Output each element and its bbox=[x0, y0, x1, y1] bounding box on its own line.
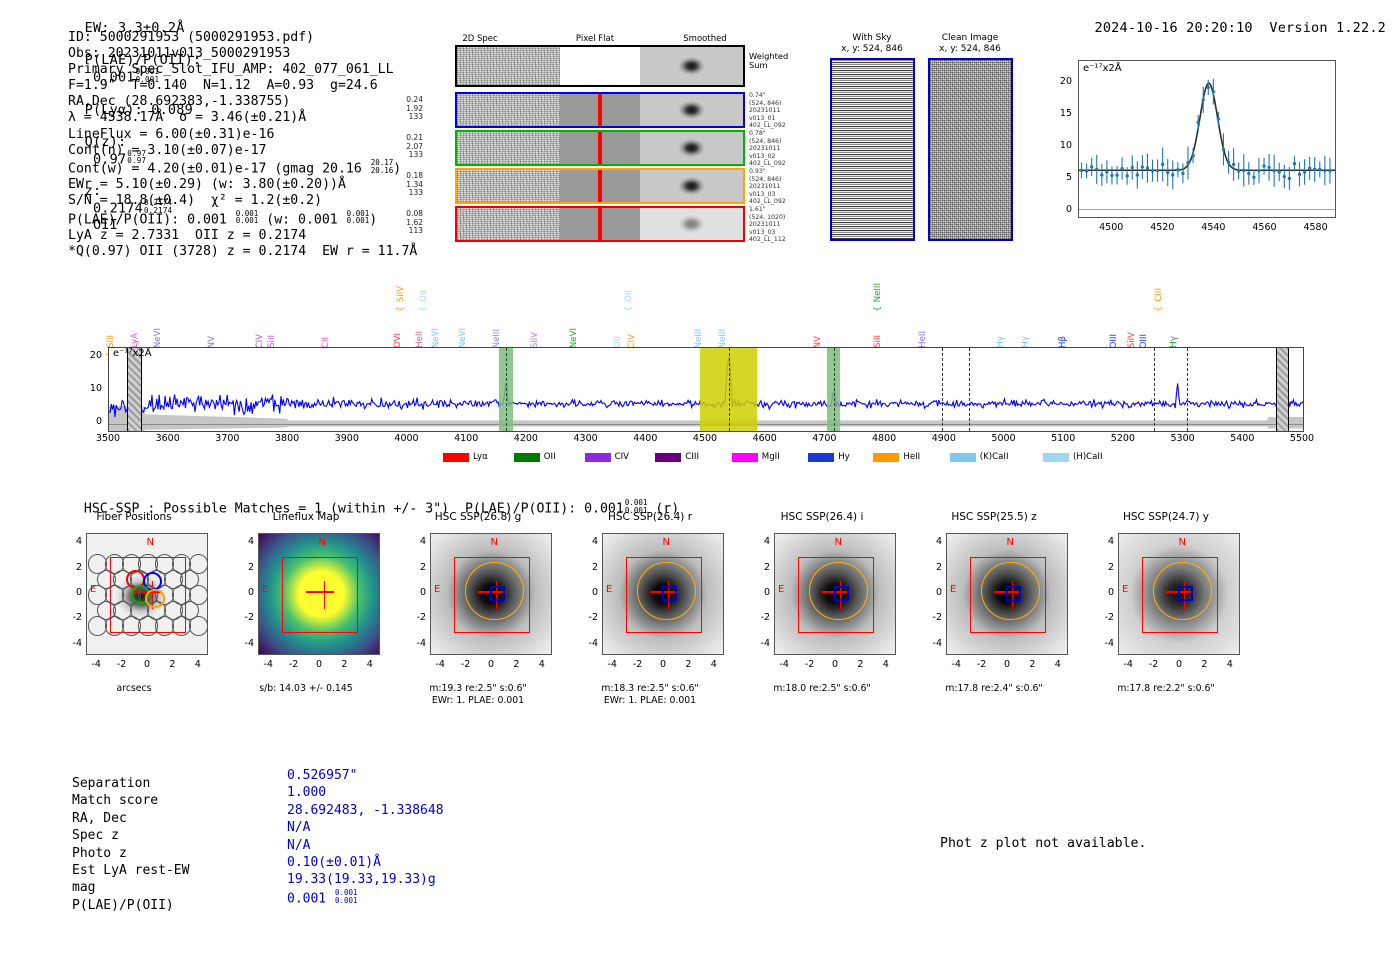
legend-swatch bbox=[950, 453, 976, 462]
fiber-1-pixelflat bbox=[560, 94, 640, 126]
cutout-ytick: -2 bbox=[576, 612, 598, 623]
line-label-heii: HeII bbox=[415, 331, 425, 348]
info-plae-range: 0.0010.001 bbox=[236, 210, 259, 226]
info-obs: Obs: 20231011v013_5000291953 bbox=[68, 46, 417, 62]
cutout-xtick: 0 bbox=[135, 659, 159, 670]
cutout-xtick: 0 bbox=[823, 659, 847, 670]
line-label-civ: CIV bbox=[255, 334, 265, 348]
weighted-sum-smoothed bbox=[640, 47, 743, 85]
line-bracket: { bbox=[1154, 306, 1164, 312]
masked-region bbox=[127, 348, 143, 431]
north-label: N bbox=[319, 537, 326, 548]
cutout-xtick: 4 bbox=[530, 659, 554, 670]
cutout-ytick: -2 bbox=[60, 612, 82, 623]
line-label-nevi: NeVI bbox=[569, 328, 579, 348]
weighted-sum-2dspec bbox=[457, 47, 560, 85]
cutout-image[interactable]: NE bbox=[602, 533, 724, 655]
source-marker bbox=[1178, 586, 1193, 601]
cutout-ytick: -4 bbox=[404, 638, 426, 649]
fiber-4-left-stats: 0.081.62113 bbox=[385, 210, 423, 236]
legend-label: Lyα bbox=[473, 452, 488, 462]
cutout-xtick: -2 bbox=[454, 659, 478, 670]
cutout-ytick: 0 bbox=[1092, 587, 1114, 598]
cutout-image[interactable]: NE bbox=[258, 533, 380, 655]
montage-title-2dspec: 2D Spec bbox=[430, 34, 530, 44]
fiber-circle bbox=[189, 554, 208, 573]
legend-item-oii: OII bbox=[514, 452, 556, 462]
cutout-caption-line2: EWr: 1. PLAE: 0.001 bbox=[432, 695, 524, 706]
cutout-xtick: -2 bbox=[970, 659, 994, 670]
cutout-image[interactable]: NE bbox=[774, 533, 896, 655]
info-redshifts: LyA z = 2.7331 OII z = 0.2174 bbox=[68, 228, 417, 244]
cutout-title: HSC SSP(24.7) y bbox=[1092, 511, 1240, 523]
cutout-ytick: 4 bbox=[232, 536, 254, 547]
cutout-title: HSC SSP(26.8) g bbox=[404, 511, 552, 523]
info-plae-w-range: 0.0010.001 bbox=[347, 210, 370, 226]
north-label: N bbox=[1179, 537, 1186, 548]
line-label-siiv: SiIV bbox=[396, 286, 406, 302]
fiber-1-left-stats: 0.241.92133 bbox=[385, 96, 423, 122]
masked-region bbox=[1276, 348, 1289, 431]
line-bracket: { bbox=[873, 306, 883, 312]
cutout-caption-line2: EWr: 1. PLAE: 0.001 bbox=[604, 695, 696, 706]
detail-value: 0.001 0.0010.001 bbox=[287, 889, 358, 908]
cutout-xtick: 2 bbox=[332, 659, 356, 670]
cutout-xtick: 0 bbox=[1167, 659, 1191, 670]
cutout-caption: m:17.8 re:2.2" s:0.6" bbox=[1092, 683, 1240, 695]
fiber-3-smoothed bbox=[640, 170, 743, 202]
cutout-caption-line1: arcsecs bbox=[117, 683, 152, 694]
cutout-ytick: -4 bbox=[920, 638, 942, 649]
reference-line bbox=[969, 348, 970, 431]
cutout-xtick: -4 bbox=[600, 659, 624, 670]
legend-label: Hy bbox=[838, 452, 850, 462]
cutout-ytick: -4 bbox=[576, 638, 598, 649]
with-sky-title: With Skyx, y: 524, 846 bbox=[822, 33, 922, 55]
detail-value-range: 0.0010.001 bbox=[335, 889, 358, 905]
info-classification: *Q(0.97) OII (3728) z = 0.2174 EW r = 11… bbox=[68, 244, 417, 260]
fit-ytick: 0 bbox=[1046, 204, 1072, 215]
fiber-3-pixelflat bbox=[560, 170, 640, 202]
cutout-xtick: -2 bbox=[282, 659, 306, 670]
fit-xtick: 4560 bbox=[1248, 222, 1280, 233]
fiber-2-left-stats: 0.212.07133 bbox=[385, 134, 423, 160]
cutout-ytick: -2 bbox=[1092, 612, 1114, 623]
cutout-xtick: -2 bbox=[110, 659, 134, 670]
cutout-ytick: -4 bbox=[1092, 638, 1114, 649]
info-ewr: EWr = 5.10(±0.29) (w: 3.80(±0.20))Å bbox=[68, 177, 417, 193]
legend-swatch bbox=[514, 453, 540, 462]
crosshair-horizontal bbox=[306, 591, 334, 592]
cutout-xtick: 4 bbox=[702, 659, 726, 670]
line-label-neiii: NeIII bbox=[873, 283, 883, 302]
spectrum-ylabel: e⁻¹⁷x2Å bbox=[113, 348, 152, 359]
cutout-ytick: -2 bbox=[232, 612, 254, 623]
source-marker bbox=[662, 586, 677, 601]
legend-item-ciii: CIII bbox=[655, 452, 699, 462]
cutout-ytick: 0 bbox=[576, 587, 598, 598]
cutout-xtick: 4 bbox=[186, 659, 210, 670]
fit-xtick: 4540 bbox=[1197, 222, 1229, 233]
line-label-oiii: OIII bbox=[1139, 334, 1149, 348]
fiber-1-smoothed bbox=[640, 94, 743, 126]
cutout-xtick: 4 bbox=[874, 659, 898, 670]
legend-swatch bbox=[808, 453, 834, 462]
info-seeing: F=1.9" T=0.140 N=1.12 A=0.93 g=24.6 bbox=[68, 78, 417, 94]
east-label: E bbox=[262, 584, 268, 595]
spectrum-ytick: 0 bbox=[78, 416, 102, 427]
detail-value-lo: 0.001 bbox=[335, 896, 358, 905]
north-label: N bbox=[1007, 537, 1014, 548]
cutout-ytick: 2 bbox=[404, 562, 426, 573]
legend-item-hcaii: (H)CaII bbox=[1043, 452, 1103, 462]
line-label-heii: HeII bbox=[918, 331, 928, 348]
legend-label: CIV bbox=[615, 452, 629, 462]
weighted-sum-pixelflat bbox=[560, 47, 640, 85]
cutout-xtick: 2 bbox=[1020, 659, 1044, 670]
line-fit-axes: e⁻¹⁷x2Å bbox=[1078, 60, 1336, 218]
line-label-siiv: SiIV bbox=[1127, 332, 1137, 348]
line-label-nevi: NeVI bbox=[431, 328, 441, 348]
legend-label: (H)CaII bbox=[1073, 452, 1103, 462]
reference-line bbox=[1154, 348, 1155, 431]
montage-title-smoothed: Smoothed bbox=[660, 34, 750, 44]
detail-value: 19.33(19.33,19.33)g bbox=[287, 871, 436, 888]
east-label: E bbox=[778, 584, 784, 595]
line-label-neiii: NeIII bbox=[694, 329, 704, 348]
detail-key: RA, Dec bbox=[72, 810, 127, 827]
detail-key: P(LAE)/P(OII) bbox=[72, 897, 174, 914]
cutout-image[interactable]: NE bbox=[430, 533, 552, 655]
fiber-row-3 bbox=[455, 168, 745, 204]
cutout-caption-line1: s/b: 14.03 +/- 0.145 bbox=[259, 683, 352, 694]
cutout-caption-line1: m:19.3 re:2.5" s:0.6" bbox=[429, 683, 526, 694]
info-id: ID: 5000291953 (5000291953.pdf) bbox=[68, 30, 417, 46]
cutout-xtick: 4 bbox=[1218, 659, 1242, 670]
detail-key: Separation bbox=[72, 775, 150, 792]
cutout-title: HSC SSP(26.4) i bbox=[748, 511, 896, 523]
cutout-xtick: -4 bbox=[84, 659, 108, 670]
cutout-caption: m:19.3 re:2.5" s:0.6"EWr: 1. PLAE: 0.001 bbox=[404, 683, 552, 707]
band-center-line bbox=[834, 348, 835, 431]
weighted-sum-label: WeightedSum bbox=[749, 52, 788, 71]
detail-value-text: 0.001 bbox=[287, 891, 334, 906]
fiber-row-2 bbox=[455, 130, 745, 166]
detail-value: 1.000 bbox=[287, 784, 326, 801]
cutout-ytick: 4 bbox=[404, 536, 426, 547]
timestamp-version: 2024-10-16 20:20:10 Version 1.22.2 bbox=[1078, 4, 1386, 36]
cutout-ytick: -2 bbox=[920, 612, 942, 623]
photz-note: Phot z plot not available. bbox=[940, 836, 1146, 851]
info-plae: P(LAE)/P(OII): 0.001 0.0010.001 (w: 0.00… bbox=[68, 210, 417, 229]
cutout-xtick: -4 bbox=[772, 659, 796, 670]
detail-value: N/A bbox=[287, 837, 310, 854]
cutout-image[interactable]: NE bbox=[946, 533, 1068, 655]
fit-curve bbox=[1079, 61, 1335, 217]
legend-item-hy: Hy bbox=[808, 452, 850, 462]
line-label-oii: OII bbox=[419, 290, 429, 302]
source-marker bbox=[834, 586, 849, 601]
fit-ylabel: e⁻¹⁷x2Å bbox=[1083, 63, 1122, 74]
spectrum-legend: LyαOIICIVCIIIMgIIHyHeII(K)CaII(H)CaII bbox=[108, 432, 1304, 452]
legend-item-ly: Lyα bbox=[443, 452, 488, 462]
cutout-ytick: 2 bbox=[232, 562, 254, 573]
cutout-xtick: -4 bbox=[944, 659, 968, 670]
detail-value: 0.10(±0.01)Å bbox=[287, 854, 381, 871]
line-label-oiii: OIII bbox=[1109, 334, 1119, 348]
detail-key: mag bbox=[72, 879, 95, 896]
fiber-3-right-meta: 0.93"(524, 846)20231011v013_03402_LL_092 bbox=[749, 168, 786, 206]
east-label: E bbox=[434, 584, 440, 595]
cutout-ytick: 4 bbox=[1092, 536, 1114, 547]
detail-key: Spec z bbox=[72, 827, 119, 844]
fiber-3-2dspec bbox=[457, 170, 560, 202]
cutout-xtick: 4 bbox=[358, 659, 382, 670]
timestamp: 2024-10-16 20:20:10 bbox=[1095, 20, 1253, 36]
east-label: E bbox=[606, 584, 612, 595]
line-label-oii: OII bbox=[624, 290, 634, 302]
legend-swatch bbox=[655, 453, 681, 462]
legend-swatch bbox=[1043, 453, 1069, 462]
cutout-xtick: 0 bbox=[479, 659, 503, 670]
north-label: N bbox=[663, 537, 670, 548]
cutout-title: Lineflux Map bbox=[232, 511, 380, 523]
fit-ytick: 15 bbox=[1046, 108, 1072, 119]
line-label-lya: LyA bbox=[130, 333, 140, 348]
east-label: E bbox=[90, 584, 96, 595]
north-label: N bbox=[147, 537, 154, 548]
cutout-xtick: 2 bbox=[1192, 659, 1216, 670]
fit-ytick: 20 bbox=[1046, 76, 1072, 87]
legend-label: HeII bbox=[903, 452, 920, 462]
fiber-3-left-stats: 0.181.34133 bbox=[385, 172, 423, 198]
reference-line bbox=[942, 348, 943, 431]
legend-swatch bbox=[443, 453, 469, 462]
cutout-ytick: 0 bbox=[920, 587, 942, 598]
cutout-xtick: 2 bbox=[504, 659, 528, 670]
cutout-caption-line1: m:18.3 re:2.5" s:0.6" bbox=[601, 683, 698, 694]
legend-swatch bbox=[732, 453, 758, 462]
cutout-caption: m:18.3 re:2.5" s:0.6"EWr: 1. PLAE: 0.001 bbox=[576, 683, 724, 707]
fiber-2-2dspec bbox=[457, 132, 560, 164]
fit-xtick: 4580 bbox=[1300, 222, 1332, 233]
cutout-caption: arcsecs bbox=[60, 683, 208, 695]
cutout-ytick: 0 bbox=[748, 587, 770, 598]
north-label: N bbox=[835, 537, 842, 548]
line-label-ovi: OVI bbox=[393, 333, 403, 348]
fiber-2-pixelflat bbox=[560, 132, 640, 164]
clean-image bbox=[928, 58, 1013, 241]
with-sky-image bbox=[830, 58, 915, 241]
legend-label: OII bbox=[544, 452, 556, 462]
fiber-2-smoothed bbox=[640, 132, 743, 164]
fiber-circle-highlighted bbox=[145, 589, 164, 608]
cutout-xtick: -4 bbox=[256, 659, 280, 670]
cutout-caption-line1: m:17.8 re:2.4" s:0.6" bbox=[945, 683, 1042, 694]
legend-item-mgii: MgII bbox=[732, 452, 780, 462]
line-label-neiii: NeIII bbox=[492, 329, 502, 348]
legend-item-kcaii: (K)CaII bbox=[950, 452, 1009, 462]
cutout-caption: m:18.0 re:2.5" s:0.6" bbox=[748, 683, 896, 695]
cutout-ytick: 0 bbox=[404, 587, 426, 598]
info-cont-n: Cont(n) = 3.10(±0.07)e-17 bbox=[68, 143, 417, 159]
legend-label: MgII bbox=[762, 452, 780, 462]
cutout-title: HSC SSP(26.4) r bbox=[576, 511, 724, 523]
line-label-nevi: NeVI bbox=[458, 328, 468, 348]
cutout-ytick: 4 bbox=[576, 536, 598, 547]
band-center-line bbox=[729, 348, 730, 431]
detail-value: N/A bbox=[287, 819, 310, 836]
cutout-ytick: 0 bbox=[60, 587, 82, 598]
line-fit-plot: e⁻¹⁷x2Å 2015105045004520454045604580 bbox=[1038, 56, 1338, 246]
cutout-ytick: -2 bbox=[748, 612, 770, 623]
fiber-4-pixelflat bbox=[560, 208, 640, 240]
cutout-ytick: 2 bbox=[60, 562, 82, 573]
cutout-caption-line1: m:18.0 re:2.5" s:0.6" bbox=[773, 683, 870, 694]
cutout-caption-line1: m:17.8 re:2.2" s:0.6" bbox=[1117, 683, 1214, 694]
line-bracket: { bbox=[624, 306, 634, 312]
north-label: N bbox=[491, 537, 498, 548]
cutout-image[interactable]: NE bbox=[86, 533, 208, 655]
cutout-ytick: -2 bbox=[404, 612, 426, 623]
line-label-civ: CIV bbox=[627, 334, 637, 348]
version: Version 1.22.2 bbox=[1269, 20, 1386, 36]
full-spectrum-plot: SiII{LyA{NeVI{NV{CIV{SiII{CII{OVI{SiIV{H… bbox=[108, 347, 1304, 432]
detail-key: Est LyA rest-EW bbox=[72, 862, 189, 879]
cutout-caption: s/b: 14.03 +/- 0.145 bbox=[232, 683, 380, 695]
fiber-4-smoothed bbox=[640, 208, 743, 240]
fiber-row-1 bbox=[455, 92, 745, 128]
weighted-sum-row bbox=[455, 45, 745, 87]
info-cont-w: Cont(w) = 4.20(±0.01)e-17 (gmag 20.16 20… bbox=[68, 159, 417, 178]
spectrum-ytick: 10 bbox=[78, 383, 102, 394]
detection-info-block: ID: 5000291953 (5000291953.pdf) Obs: 202… bbox=[68, 30, 417, 260]
fiber-1-right-meta: 0.74"(524, 846)20231011v013_01402_LL_092 bbox=[749, 92, 786, 130]
fit-ytick: 5 bbox=[1046, 172, 1072, 183]
cutout-xtick: 0 bbox=[995, 659, 1019, 670]
cutout-image[interactable]: NE bbox=[1118, 533, 1240, 655]
source-marker bbox=[490, 586, 505, 601]
cutout-xtick: -2 bbox=[1142, 659, 1166, 670]
info-lineflux: LineFlux = 6.00(±0.31)e-16 bbox=[68, 127, 417, 143]
legend-label: CIII bbox=[685, 452, 699, 462]
crosshair-vertical bbox=[324, 581, 325, 609]
info-slot: Primary Spec_Slot_IFU_AMP: 402_077_061_L… bbox=[68, 62, 417, 78]
fit-xtick: 4520 bbox=[1146, 222, 1178, 233]
fit-xtick: 4500 bbox=[1095, 222, 1127, 233]
cutout-xtick: 0 bbox=[651, 659, 675, 670]
cutout-xtick: -4 bbox=[428, 659, 452, 670]
band-center-line bbox=[506, 348, 507, 431]
cutout-ytick: 0 bbox=[232, 587, 254, 598]
detail-value: 0.526957" bbox=[287, 767, 357, 784]
cutout-ytick: 2 bbox=[1092, 562, 1114, 573]
spectrum-axes: e⁻¹⁷x2Å bbox=[108, 347, 1304, 432]
cutout-xtick: -2 bbox=[798, 659, 822, 670]
fiber-4-2dspec bbox=[457, 208, 560, 240]
cutout-ytick: 2 bbox=[748, 562, 770, 573]
line-bracket: { bbox=[396, 306, 406, 312]
legend-swatch bbox=[873, 453, 899, 462]
reference-line bbox=[1187, 348, 1188, 431]
cutout-xtick: 2 bbox=[676, 659, 700, 670]
legend-swatch bbox=[585, 453, 611, 462]
cutout-xtick: -4 bbox=[1116, 659, 1140, 670]
cutout-title: HSC SSP(25.5) z bbox=[920, 511, 1068, 523]
fiber-row-4 bbox=[455, 206, 745, 242]
cutout-xtick: 2 bbox=[160, 659, 184, 670]
line-label-nevi: NeVI bbox=[153, 328, 163, 348]
cutout-title: Fiber Positions bbox=[60, 511, 208, 523]
cutout-xtick: -2 bbox=[626, 659, 650, 670]
cutout-ytick: -4 bbox=[748, 638, 770, 649]
detail-value: 28.692483, -1.338648 bbox=[287, 802, 444, 819]
cutout-ytick: 2 bbox=[920, 562, 942, 573]
line-bracket: { bbox=[419, 306, 429, 312]
montage-title-pixelflat: Pixel Flat bbox=[550, 34, 640, 44]
cutout-xtick: 4 bbox=[1046, 659, 1070, 670]
detail-key: Match score bbox=[72, 792, 158, 809]
fit-ytick: 10 bbox=[1046, 140, 1072, 151]
legend-label: (K)CaII bbox=[980, 452, 1009, 462]
info-wavelength: λ = 4538.17Å σ = 3.46(±0.21)Å bbox=[68, 110, 417, 126]
field-of-view-box bbox=[282, 557, 358, 633]
line-label-neiii: NeIII bbox=[718, 329, 728, 348]
detail-key: Photo z bbox=[72, 845, 127, 862]
east-label: E bbox=[1122, 584, 1128, 595]
info-sn: S/N = 18.8(±0.4) χ² = 1.2(±0.2) bbox=[68, 193, 417, 209]
source-marker bbox=[1006, 586, 1021, 601]
line-label-siiv: SiIV bbox=[530, 332, 540, 348]
cutout-ytick: 4 bbox=[920, 536, 942, 547]
cutout-ytick: 4 bbox=[748, 536, 770, 547]
east-label: E bbox=[950, 584, 956, 595]
cutout-ytick: 4 bbox=[60, 536, 82, 547]
legend-item-heii: HeII bbox=[873, 452, 920, 462]
cutout-ytick: -4 bbox=[232, 638, 254, 649]
spectrum-ytick: 20 bbox=[78, 350, 102, 361]
fiber-4-right-meta: 1.61"(524, 1020)20231011v013_03402_LL_11… bbox=[749, 206, 786, 244]
cutout-xtick: 0 bbox=[307, 659, 331, 670]
fiber-1-2dspec bbox=[457, 94, 560, 126]
cutout-xtick: 2 bbox=[848, 659, 872, 670]
cutout-ytick: -4 bbox=[60, 638, 82, 649]
line-label-ciii: CIII bbox=[1154, 288, 1164, 302]
legend-item-civ: CIV bbox=[585, 452, 629, 462]
cutout-caption: m:17.8 re:2.4" s:0.6" bbox=[920, 683, 1068, 695]
clean-image-title: Clean Imagex, y: 524, 846 bbox=[920, 33, 1020, 55]
info-radec: RA,Dec (28.692383,-1.338755) bbox=[68, 94, 417, 110]
fiber-2-right-meta: 0.78"(524, 846)20231011v013_02402_LL_092 bbox=[749, 130, 786, 168]
cutout-ytick: 2 bbox=[576, 562, 598, 573]
